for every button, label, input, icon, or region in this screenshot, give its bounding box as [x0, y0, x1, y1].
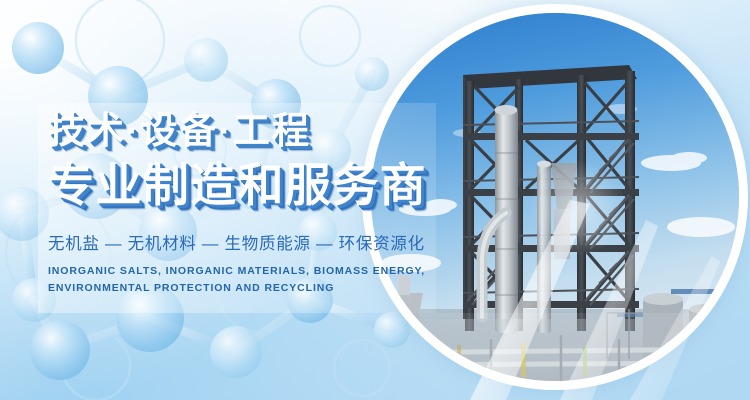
- headline-line-1: 技术·设备·工程: [48, 112, 448, 149]
- hero-banner: 技术·设备·工程 专业制造和服务商 无机盐 — 无机材料 — 生物质能源 — 环…: [0, 0, 750, 400]
- subtitle-chinese: 无机盐 — 无机材料 — 生物质能源 — 环保资源化: [48, 230, 448, 254]
- subtitle-english: INORGANIC SALTS, INORGANIC MATERIALS, BI…: [48, 263, 440, 298]
- banner-copy: 技术·设备·工程 专业制造和服务商 无机盐 — 无机材料 — 生物质能源 — 环…: [48, 104, 448, 298]
- headline-line-2: 专业制造和服务商: [48, 162, 448, 208]
